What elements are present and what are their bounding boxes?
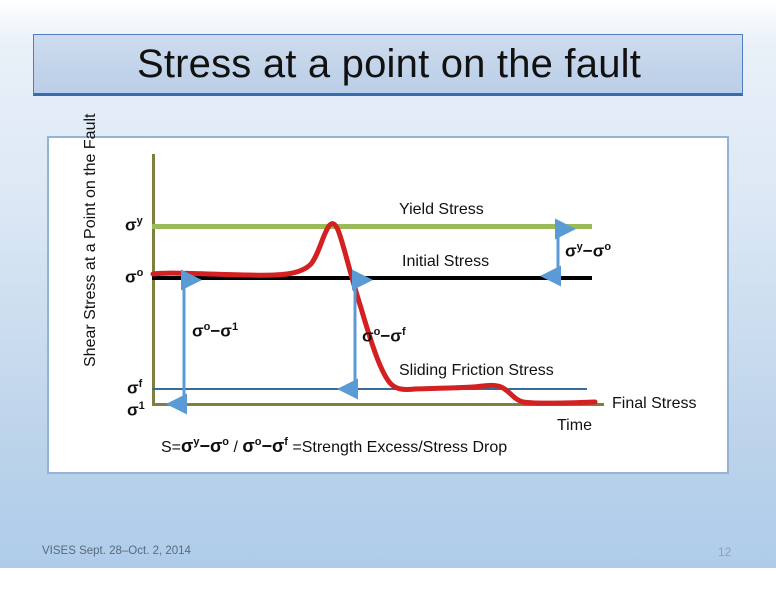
label-initial-stress: Initial Stress	[402, 253, 489, 271]
annotation-arrows	[49, 138, 731, 476]
page-title: Stress at a point on the fault	[34, 35, 744, 94]
label-sliding-friction-stress: Sliding Friction Stress	[399, 362, 554, 380]
y-tick-friction-sup: f	[139, 378, 143, 390]
slide-canvas: Stress at a point on the fault	[0, 0, 776, 568]
y-tick-initial: σo	[125, 267, 143, 288]
y-tick-final-sup: 1	[139, 400, 145, 412]
annotation-strength-excess: σy−σo	[565, 241, 611, 262]
slide-page-number: 12	[718, 545, 731, 559]
y-tick-initial-sup: o	[137, 267, 144, 279]
slide-title-box: Stress at a point on the fault	[33, 34, 743, 96]
y-tick-yield-sup: y	[137, 215, 143, 227]
label-final-stress: Final Stress	[612, 395, 696, 413]
formula-strength-excess-stress-drop: S=σy−σo / σo−σf =Strength Excess/Stress …	[161, 436, 507, 457]
annotation-dynamic-drop: σo−σ1	[192, 321, 238, 342]
footer-conference-info: VISES Sept. 28–Oct. 2, 2014	[42, 545, 191, 557]
label-yield-stress: Yield Stress	[399, 201, 484, 219]
y-tick-yield: σy	[125, 215, 143, 236]
annotation-stress-drop: σo−σf	[362, 326, 406, 347]
stress-time-chart: Shear Stress at a Point on the Fault σy …	[49, 138, 731, 476]
y-tick-final: σ1	[127, 400, 145, 421]
y-tick-friction: σf	[127, 378, 142, 399]
y-axis-label: Shear Stress at a Point on the Fault	[82, 127, 100, 367]
x-axis-label: Time	[557, 417, 592, 435]
content-panel: Shear Stress at a Point on the Fault σy …	[47, 136, 729, 474]
